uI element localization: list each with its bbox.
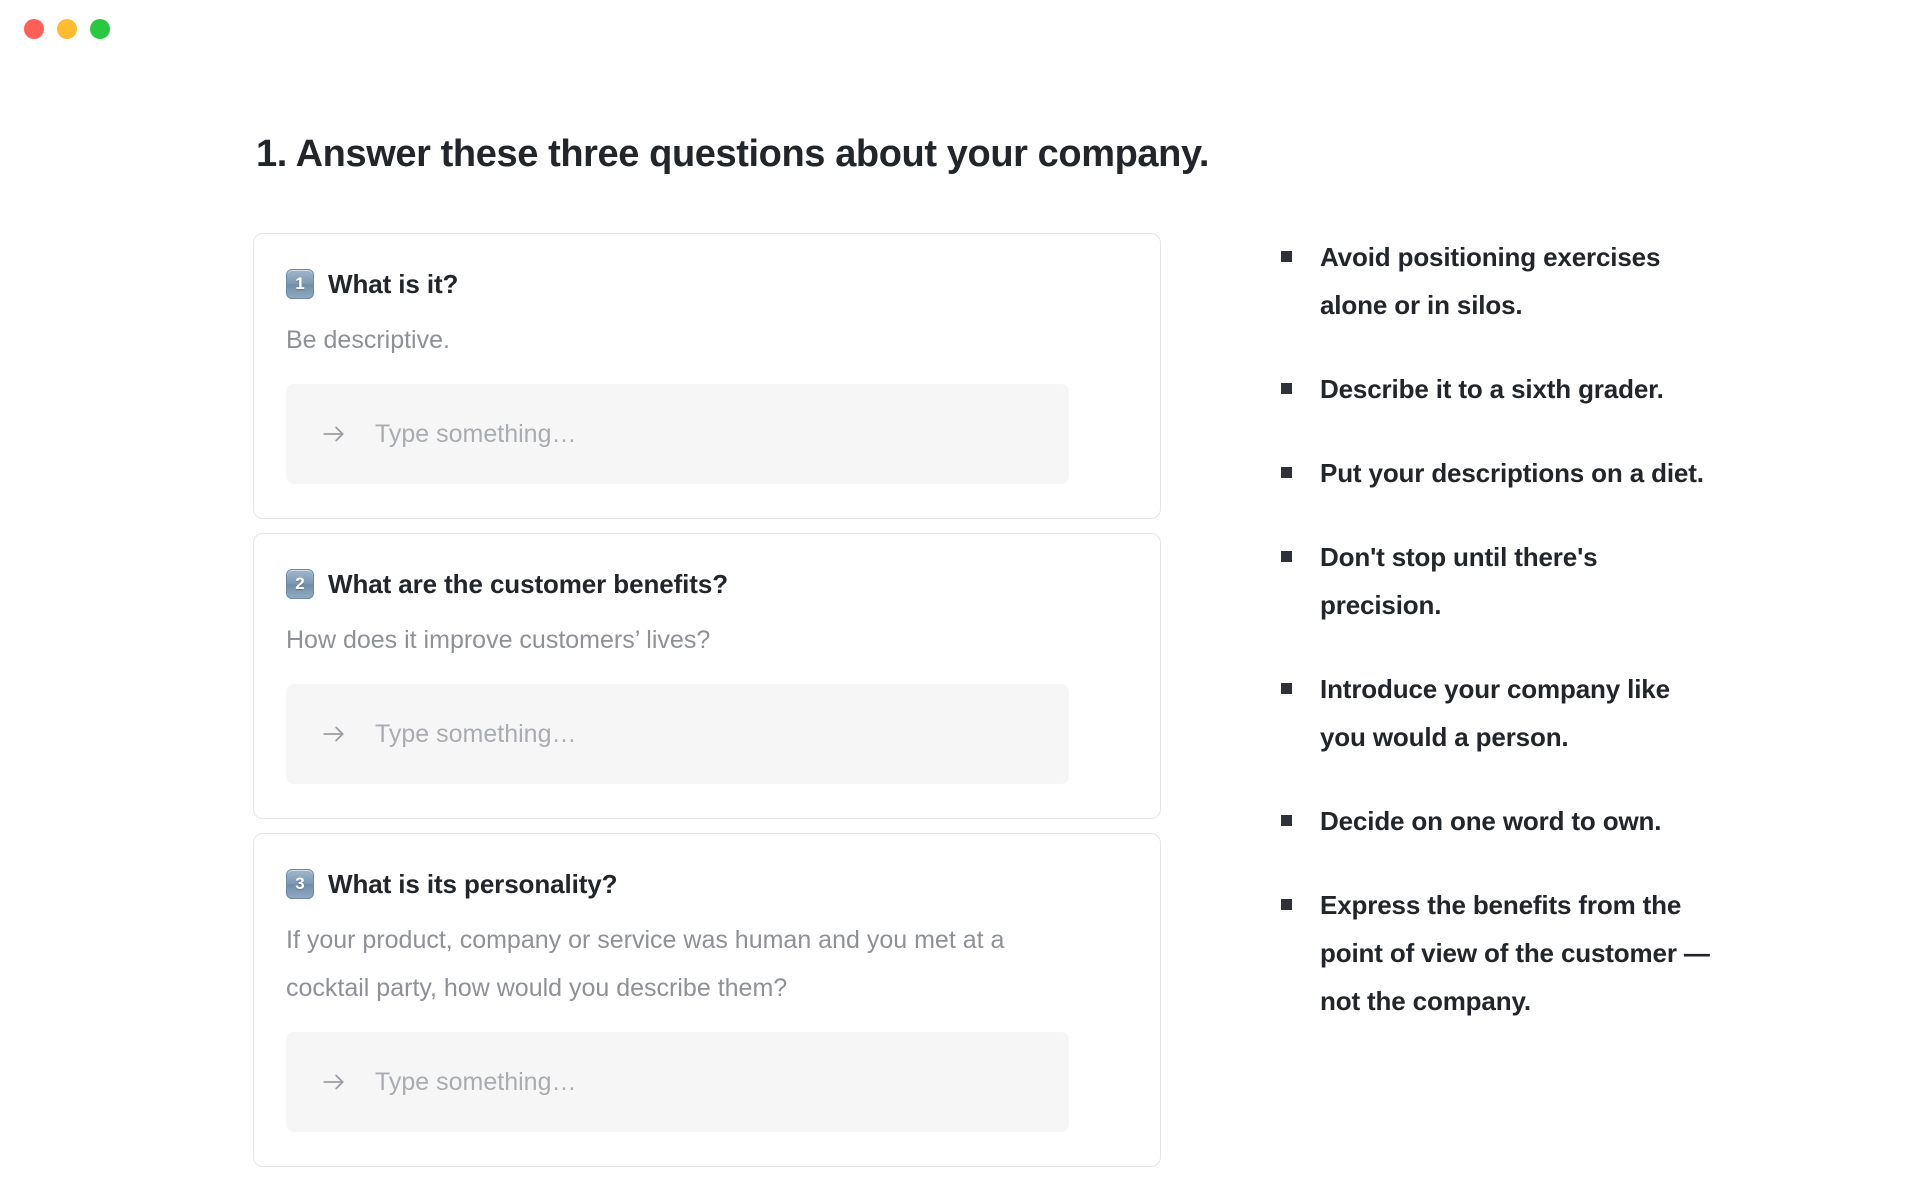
arrow-right-icon xyxy=(321,721,347,747)
answer-input-3[interactable]: Type something… xyxy=(286,1032,1069,1132)
page-title: 1. Answer these three questions about yo… xyxy=(256,133,1209,176)
tip-text: Put your descriptions on a diet. xyxy=(1320,449,1704,497)
tip-text: Express the benefits from the point of v… xyxy=(1320,881,1710,1025)
question-card-3[interactable]: 3 What is its personality? If your produ… xyxy=(253,833,1161,1167)
list-item: Decide on one word to own. xyxy=(1281,797,1711,845)
question-number-badge-3: 3 xyxy=(286,869,314,899)
answer-input-2[interactable]: Type something… xyxy=(286,684,1069,784)
list-item: Introduce your company like you would a … xyxy=(1281,665,1711,761)
square-bullet-icon xyxy=(1281,899,1292,910)
minimize-window-button[interactable] xyxy=(57,19,77,39)
list-item: Don't stop until there's precision. xyxy=(1281,533,1711,629)
question-number-badge-1: 1 xyxy=(286,269,314,299)
square-bullet-icon xyxy=(1281,467,1292,478)
maximize-window-button[interactable] xyxy=(90,19,110,39)
square-bullet-icon xyxy=(1281,251,1292,262)
list-item: Avoid positioning exercises alone or in … xyxy=(1281,233,1711,329)
square-bullet-icon xyxy=(1281,683,1292,694)
tip-text: Don't stop until there's precision. xyxy=(1320,533,1710,629)
question-description-1: Be descriptive. xyxy=(286,316,1076,364)
question-title-3: What is its personality? xyxy=(328,866,617,902)
page-content: 1. Answer these three questions about yo… xyxy=(0,58,1920,1200)
question-header: 2 What are the customer benefits? xyxy=(286,566,1128,602)
tip-text: Describe it to a sixth grader. xyxy=(1320,365,1664,413)
questions-list: 1 What is it? Be descriptive. Type somet… xyxy=(253,233,1161,1181)
square-bullet-icon xyxy=(1281,383,1292,394)
square-bullet-icon xyxy=(1281,815,1292,826)
arrow-right-icon xyxy=(321,421,347,447)
arrow-right-icon xyxy=(321,1069,347,1095)
question-card-2[interactable]: 2 What are the customer benefits? How do… xyxy=(253,533,1161,819)
answer-input-1[interactable]: Type something… xyxy=(286,384,1069,484)
window-titlebar xyxy=(0,0,1920,58)
tip-text: Decide on one word to own. xyxy=(1320,797,1661,845)
square-bullet-icon xyxy=(1281,551,1292,562)
answer-placeholder-2: Type something… xyxy=(375,719,577,749)
tips-list: Avoid positioning exercises alone or in … xyxy=(1281,233,1711,1061)
question-title-1: What is it? xyxy=(328,266,458,302)
tip-text: Introduce your company like you would a … xyxy=(1320,665,1710,761)
traffic-light-group xyxy=(24,19,110,39)
question-number-badge-2: 2 xyxy=(286,569,314,599)
question-header: 1 What is it? xyxy=(286,266,1128,302)
question-card-1[interactable]: 1 What is it? Be descriptive. Type somet… xyxy=(253,233,1161,519)
answer-placeholder-1: Type something… xyxy=(375,419,577,449)
list-item: Put your descriptions on a diet. xyxy=(1281,449,1711,497)
question-description-2: How does it improve customers’ lives? xyxy=(286,616,1076,664)
question-title-2: What are the customer benefits? xyxy=(328,566,728,602)
close-window-button[interactable] xyxy=(24,19,44,39)
answer-placeholder-3: Type something… xyxy=(375,1067,577,1097)
list-item: Express the benefits from the point of v… xyxy=(1281,881,1711,1025)
tip-text: Avoid positioning exercises alone or in … xyxy=(1320,233,1710,329)
list-item: Describe it to a sixth grader. xyxy=(1281,365,1711,413)
question-description-3: If your product, company or service was … xyxy=(286,916,1076,1012)
question-header: 3 What is its personality? xyxy=(286,866,1128,902)
